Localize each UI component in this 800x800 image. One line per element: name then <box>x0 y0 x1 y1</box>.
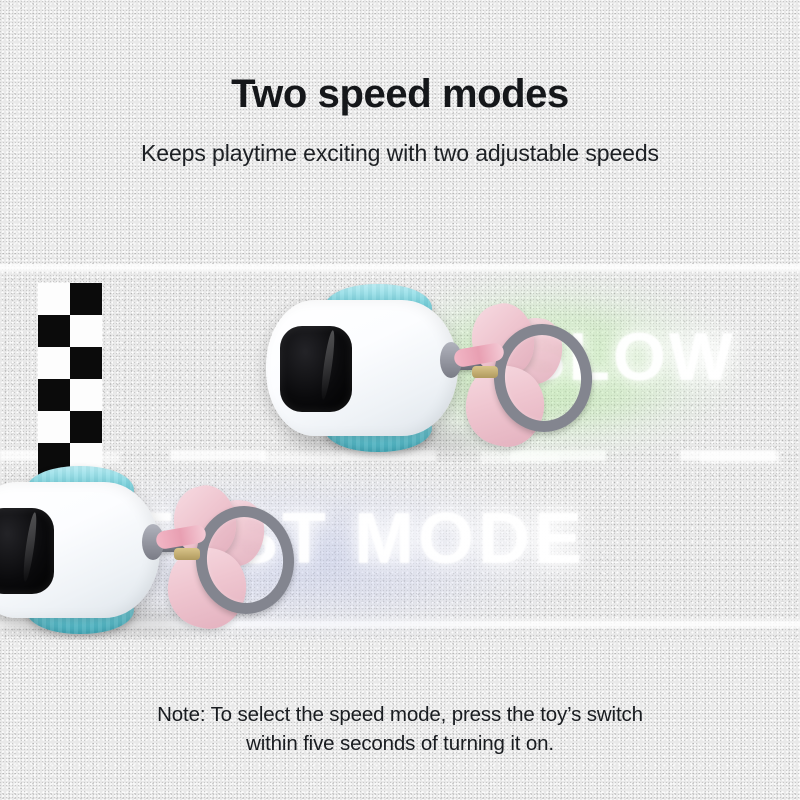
toy-car-fast <box>0 466 260 634</box>
footer-note-line-1: Note: To select the speed mode, press th… <box>0 700 800 729</box>
toy-clip <box>174 548 200 560</box>
page-subtitle: Keeps playtime exciting with two adjusta… <box>0 140 800 167</box>
toy-car-slow <box>258 284 558 452</box>
toy-face-panel <box>0 508 54 594</box>
toy-body <box>266 300 458 436</box>
toy-face-panel <box>280 326 352 412</box>
product-feature-image: SLOW FAST MODE Two speed mod <box>0 0 800 800</box>
top-panel-background <box>0 0 800 264</box>
page-title: Two speed modes <box>0 72 800 117</box>
toy-clip <box>472 366 498 378</box>
footer-note: Note: To select the speed mode, press th… <box>0 700 800 758</box>
footer-note-line-2: within five seconds of turning it on. <box>0 729 800 758</box>
toy-body <box>0 482 160 618</box>
